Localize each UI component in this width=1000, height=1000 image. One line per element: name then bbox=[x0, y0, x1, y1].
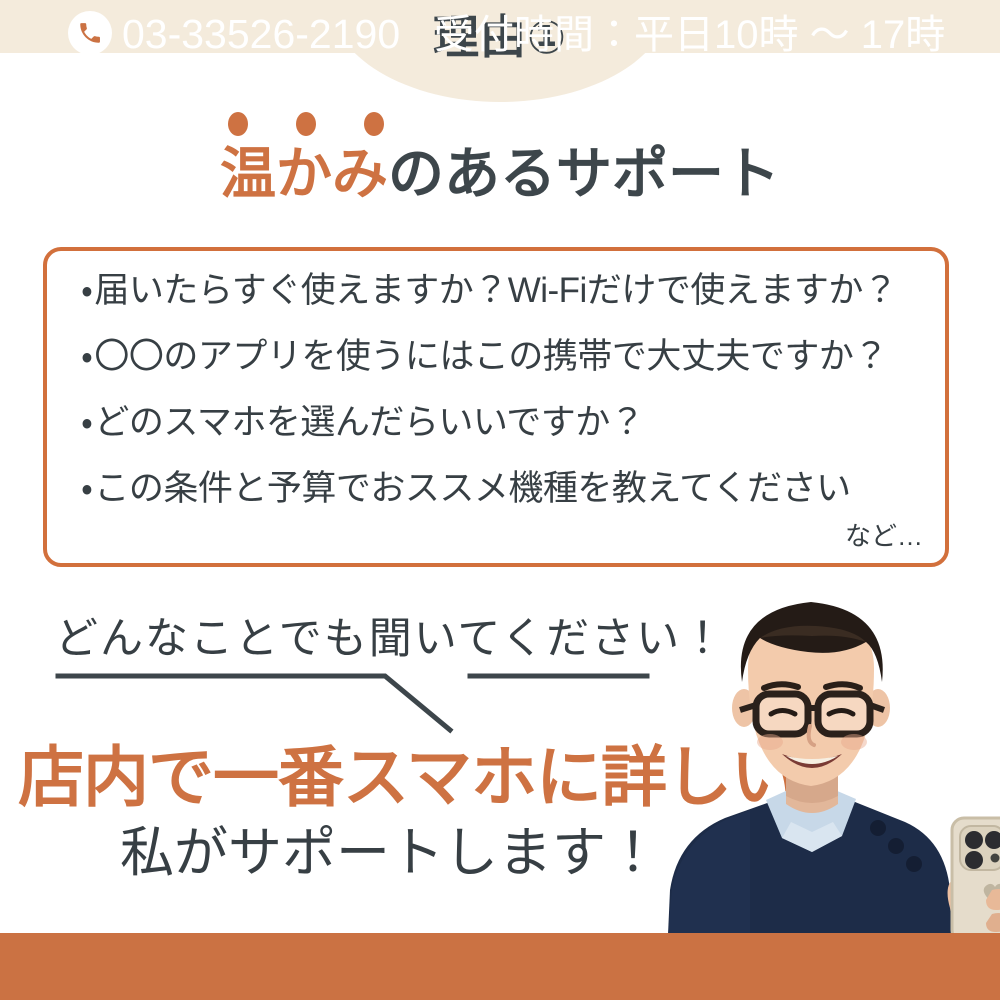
phone-handset-glyph bbox=[77, 20, 103, 46]
list-item: ・〇〇のアプリを使うにはこの携帯で大丈夫ですか？ bbox=[81, 339, 921, 374]
staff-photo bbox=[620, 590, 1000, 935]
question-box: ・届いたらすぐ使えますか？Wi-Fiだけで使えますか？ ・〇〇のアプリを使うには… bbox=[43, 247, 949, 567]
sweater-button bbox=[870, 820, 886, 836]
list-item: ・届いたらすぐ使えますか？Wi-Fiだけで使えますか？ bbox=[81, 273, 921, 308]
emphasis-dot bbox=[228, 112, 248, 136]
emphasis-dot bbox=[296, 112, 316, 136]
etc-note: など… bbox=[845, 516, 923, 553]
list-item: ・この条件と予算でおススメ機種を教えてください bbox=[81, 471, 921, 506]
sweater-button bbox=[906, 856, 922, 872]
main-heading: 温かみのあるサポート bbox=[0, 142, 1000, 206]
main-heading-rest: のあるサポート bbox=[388, 142, 780, 205]
claim-headline-secondary: 私がサポートします！ bbox=[120, 826, 660, 880]
main-heading-accent: 温かみ bbox=[220, 142, 388, 205]
footer-phone-number[interactable]: 03-33526-2190 bbox=[122, 14, 400, 55]
list-item-label: どのスマホを選んだらいいですか？ bbox=[94, 403, 644, 442]
sweater-button bbox=[888, 838, 904, 854]
list-item: ・どのスマホを選んだらいいですか？ bbox=[81, 405, 921, 440]
bullet-icon: ・ bbox=[81, 337, 92, 376]
staff-photo-illustration bbox=[620, 590, 1000, 935]
bullet-icon: ・ bbox=[81, 271, 92, 310]
emphasis-dots bbox=[228, 112, 448, 136]
phone-icon[interactable] bbox=[68, 11, 112, 55]
promo-poster: 理由① 温かみのあるサポート ・届いたらすぐ使えますか？Wi-Fiだけで使えます… bbox=[0, 0, 1000, 1000]
bullet-icon: ・ bbox=[81, 403, 92, 442]
footer-contact-bar bbox=[0, 933, 1000, 1000]
speech-bubble-tail-icon bbox=[50, 668, 670, 740]
question-list: ・届いたらすぐ使えますか？Wi-Fiだけで使えますか？ ・〇〇のアプリを使うには… bbox=[81, 273, 921, 506]
footer-business-hours: 受付時間：平日10時 〜 17時 bbox=[434, 15, 945, 55]
list-item-label: この条件と予算でおススメ機種を教えてください bbox=[94, 469, 850, 508]
emphasis-dot bbox=[364, 112, 384, 136]
bullet-icon: ・ bbox=[81, 469, 92, 508]
list-item-label: 〇〇のアプリを使うにはこの携帯で大丈夫ですか？ bbox=[94, 337, 888, 376]
list-item-label: 届いたらすぐ使えますか？Wi-Fiだけで使えますか？ bbox=[94, 271, 897, 310]
